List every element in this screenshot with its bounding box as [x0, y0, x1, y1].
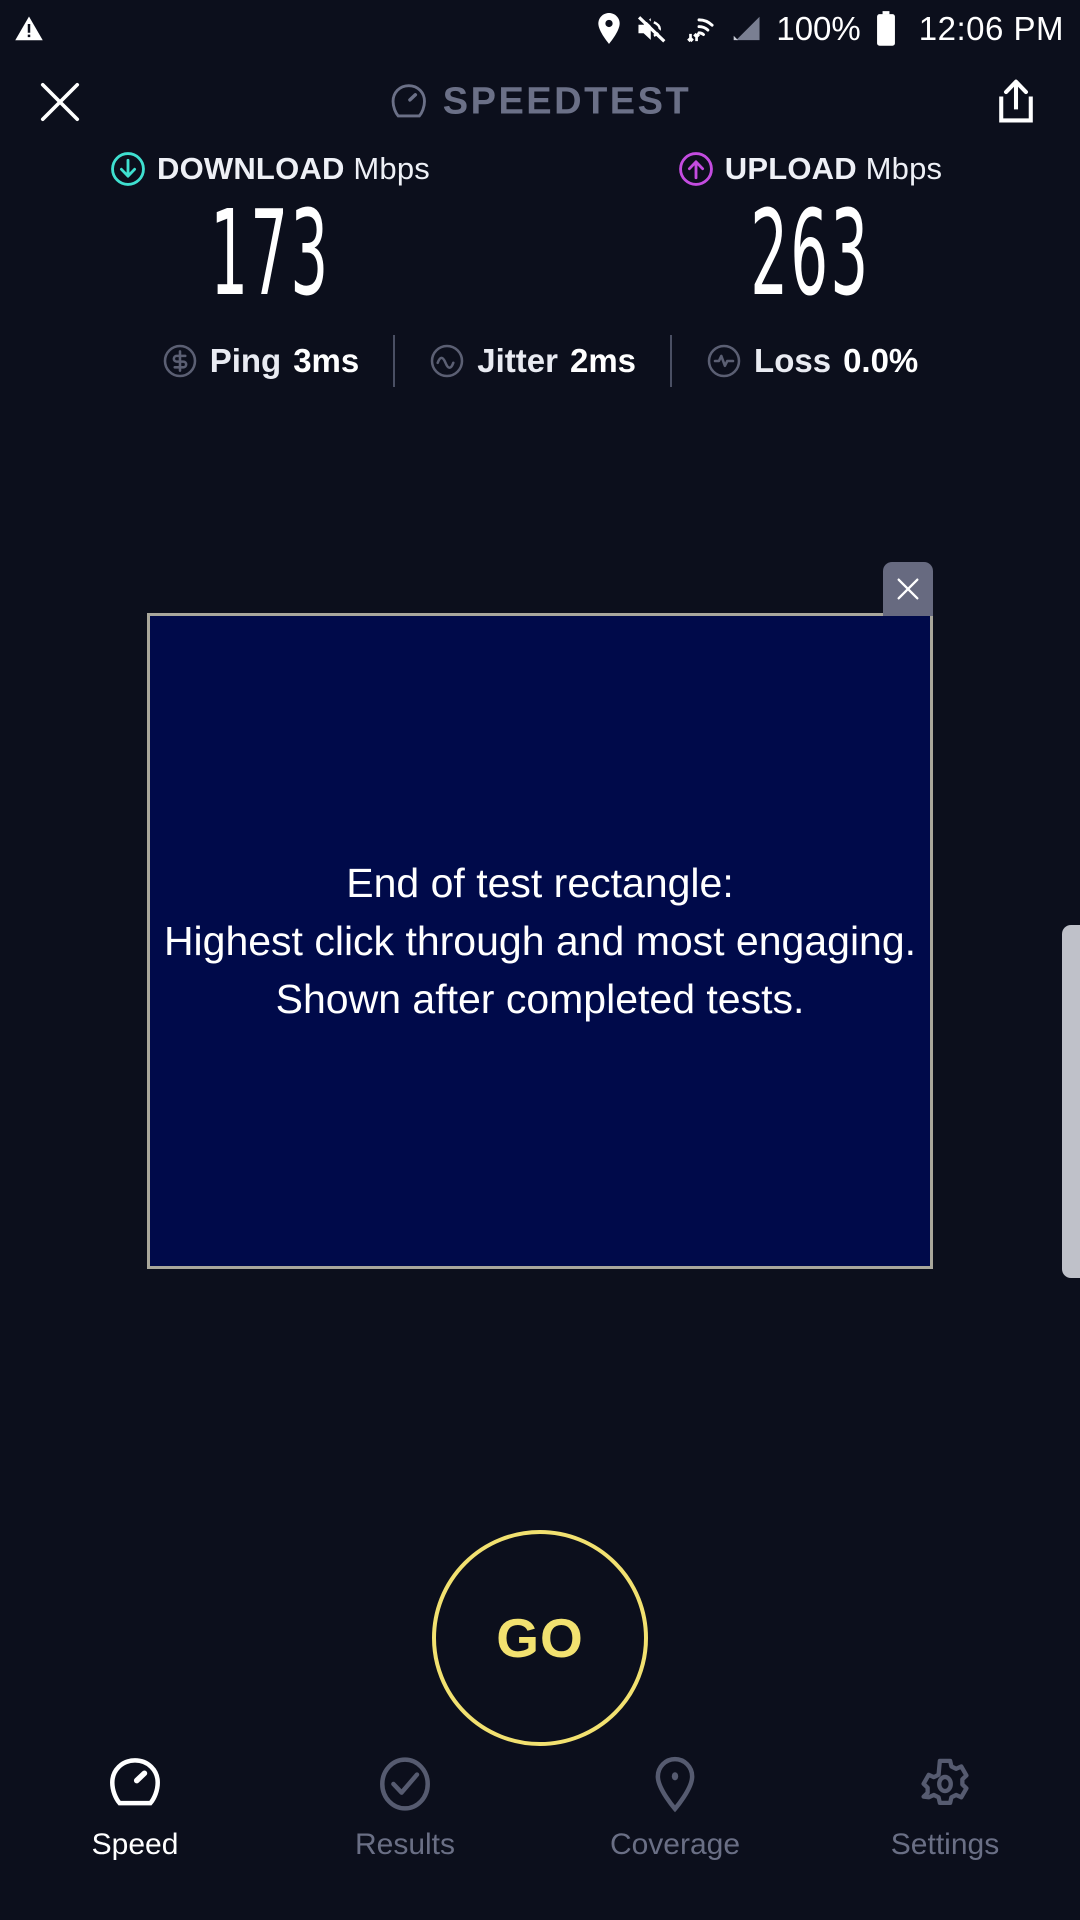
loss-label: Loss — [754, 342, 831, 380]
nav-label-coverage: Coverage — [610, 1828, 740, 1862]
loss-icon — [706, 343, 742, 379]
download-result: DOWNLOAD Mbps 173 — [0, 146, 540, 312]
wifi-transfer-icon — [682, 12, 716, 46]
download-label: DOWNLOAD Mbps — [157, 151, 430, 187]
status-bar: 100% 12:06 PM — [0, 0, 1080, 58]
speed-results-row: DOWNLOAD Mbps 173 UPLOAD Mbps — [0, 146, 1080, 312]
download-arrow-icon — [110, 151, 146, 187]
ping-icon — [162, 343, 198, 379]
speedometer-icon — [389, 82, 429, 122]
upload-arrow-icon — [678, 151, 714, 187]
location-pin-icon — [596, 13, 622, 45]
upload-value: 263 — [750, 194, 870, 312]
upload-label-text: UPLOAD — [725, 151, 857, 186]
nav-label-results: Results — [355, 1828, 455, 1862]
go-button-label: GO — [496, 1606, 584, 1670]
nav-label-speed: Speed — [92, 1828, 179, 1862]
clock-label: 12:06 PM — [919, 10, 1064, 48]
app-header: SPEEDTEST — [0, 58, 1080, 146]
results-panel: DOWNLOAD Mbps 173 UPLOAD Mbps — [0, 146, 1080, 388]
loss-value: 0.0% — [843, 342, 918, 380]
jitter-metric: Jitter 2ms — [395, 342, 670, 380]
download-value: 173 — [210, 194, 330, 312]
cellular-signal-icon — [730, 14, 762, 44]
upload-result: UPLOAD Mbps 263 — [540, 146, 1080, 312]
upload-unit: Mbps — [866, 151, 943, 186]
ad-text: End of test rectangle: Highest click thr… — [164, 854, 916, 1029]
ping-value: 3ms — [293, 342, 359, 380]
close-button[interactable] — [28, 70, 92, 134]
jitter-icon — [429, 343, 465, 379]
warning-triangle-icon — [14, 14, 44, 44]
download-unit: Mbps — [353, 151, 430, 186]
ad-close-x-icon — [894, 575, 922, 603]
ad-text-line-1: End of test rectangle: — [164, 854, 916, 912]
jitter-value: 2ms — [570, 342, 636, 380]
gear-icon — [915, 1754, 975, 1814]
network-metrics-row: Ping 3ms Jitter 2ms Loss 0.0% — [0, 334, 1080, 388]
location-pin-icon — [645, 1754, 705, 1814]
ad-close-button[interactable] — [883, 562, 933, 616]
volume-mute-icon — [636, 14, 668, 44]
ad-creative[interactable]: End of test rectangle: Highest click thr… — [147, 613, 933, 1269]
download-label-text: DOWNLOAD — [157, 151, 345, 186]
nav-label-settings: Settings — [891, 1828, 999, 1862]
battery-percent-label: 100% — [776, 10, 860, 48]
close-x-icon — [37, 79, 83, 125]
ad-text-line-2: Highest click through and most engaging. — [164, 912, 916, 970]
ping-label: Ping — [210, 342, 282, 380]
loss-metric: Loss 0.0% — [672, 342, 952, 380]
status-bar-left — [14, 14, 44, 44]
app-screen: 100% 12:06 PM SPEEDTEST — [0, 0, 1080, 1920]
scrollbar-thumb[interactable] — [1062, 925, 1080, 1278]
speedometer-icon — [105, 1754, 165, 1814]
upload-label: UPLOAD Mbps — [725, 151, 943, 187]
battery-full-icon — [875, 11, 897, 47]
advertisement[interactable]: End of test rectangle: Highest click thr… — [147, 613, 933, 1269]
check-circle-icon — [375, 1754, 435, 1814]
share-button[interactable] — [984, 70, 1048, 134]
ping-metric: Ping 3ms — [128, 342, 394, 380]
ad-text-line-3: Shown after completed tests. — [164, 970, 916, 1028]
status-bar-right: 100% 12:06 PM — [596, 10, 1064, 48]
nav-item-settings[interactable]: Settings — [810, 1754, 1080, 1862]
share-upload-icon — [993, 78, 1039, 126]
nav-item-speed[interactable]: Speed — [0, 1754, 270, 1862]
jitter-label: Jitter — [477, 342, 558, 380]
page-title: SPEEDTEST — [443, 81, 691, 124]
app-logo: SPEEDTEST — [389, 81, 691, 124]
nav-item-results[interactable]: Results — [270, 1754, 540, 1862]
go-button[interactable]: GO — [432, 1530, 648, 1746]
bottom-navigation: Speed Results Coverage Settings — [0, 1740, 1080, 1920]
nav-item-coverage[interactable]: Coverage — [540, 1754, 810, 1862]
